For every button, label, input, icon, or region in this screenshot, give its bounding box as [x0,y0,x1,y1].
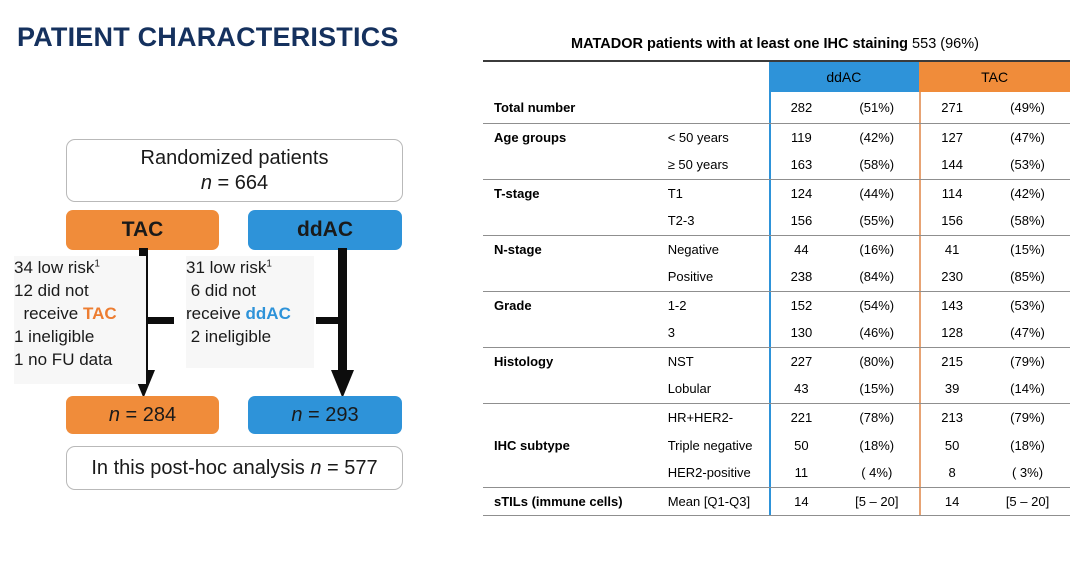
excl-right-line2: 6 did not [186,281,256,300]
result-tac-n-symbol: n [109,404,120,426]
row-label [483,375,668,403]
result-ddac-n-value: = 293 [302,404,358,426]
cell-ddac-percent: (80%) [834,347,919,375]
cell-ddac-percent: (51%) [834,92,919,123]
excl-right-line4: 2 ineligible [186,327,271,346]
cell-ddac-count: 156 [769,207,835,235]
posthoc-n-value: = 577 [321,457,377,479]
row-subcategory [668,92,769,123]
cell-ddac-percent: (42%) [834,123,919,151]
flow-box-arm-tac: TAC [66,210,219,250]
cell-tac-count: 156 [919,207,985,235]
excl-right-drug-ddac: ddAC [246,304,291,323]
randomized-n-value: = 664 [212,172,268,194]
table-caption: MATADOR patients with at least one IHC s… [470,36,1080,52]
excl-left-line5: 1 no FU data [14,350,112,369]
cell-ddac-count: 130 [769,319,835,347]
posthoc-text: In this post-hoc analysis [91,457,310,479]
table-row: 3130(46%)128(47%) [483,319,1070,347]
cell-tac-percent: (79%) [985,347,1070,375]
cell-ddac-count: 43 [769,375,835,403]
cell-ddac-percent: (16%) [834,235,919,263]
cell-tac-percent: (47%) [985,123,1070,151]
flow-box-result-ddac: n = 293 [248,396,402,434]
table-row: ≥ 50 years163(58%)144(53%) [483,151,1070,179]
column-group-tac: TAC [919,61,1070,92]
cell-tac-count: 14 [919,487,985,515]
row-label: Histology [483,347,668,375]
row-subcategory: HER2-positive [668,459,769,487]
excl-right-line3-prefix: receive [186,304,246,323]
cell-ddac-percent: (44%) [834,179,919,207]
table-caption-bold: MATADOR patients with at least one IHC s… [571,36,908,52]
cell-tac-count: 215 [919,347,985,375]
row-subcategory: Negative [668,235,769,263]
cell-ddac-count: 238 [769,263,835,291]
patient-flow-diagram: Randomized patients n = 664 TAC ddAC 34 … [0,0,470,569]
cell-tac-percent: (53%) [985,151,1070,179]
table-row: T-stageT1124(44%)114(42%) [483,179,1070,207]
cell-ddac-count: 282 [769,92,835,123]
cell-tac-count: 271 [919,92,985,123]
row-label [483,151,668,179]
row-subcategory: T2-3 [668,207,769,235]
cell-ddac-percent: (78%) [834,403,919,431]
column-group-ddac: ddAC [769,61,920,92]
arm-ddac-label: ddAC [297,218,353,242]
table-row: sTILs (immune cells)Mean [Q1-Q3]14[5 – 2… [483,487,1070,515]
table-row: N-stageNegative44(16%)41(15%) [483,235,1070,263]
header-spacer-label [483,61,668,92]
cell-ddac-percent: (15%) [834,375,919,403]
cell-ddac-count: 152 [769,291,835,319]
table-row: Positive238(84%)230(85%) [483,263,1070,291]
cell-tac-count: 230 [919,263,985,291]
cell-ddac-count: 227 [769,347,835,375]
table-row: Lobular43(15%)39(14%) [483,375,1070,403]
cell-tac-percent: (47%) [985,319,1070,347]
row-subcategory: Lobular [668,375,769,403]
cell-ddac-percent: (55%) [834,207,919,235]
randomized-label: Randomized patients [141,147,329,169]
cell-ddac-count: 11 [769,459,835,487]
cell-tac-percent: (49%) [985,92,1070,123]
row-label [483,459,668,487]
table-row: HistologyNST227(80%)215(79%) [483,347,1070,375]
flow-box-arm-ddac: ddAC [248,210,402,250]
table-row: HR+HER2-221(78%)213(79%) [483,403,1070,431]
row-label [483,207,668,235]
cell-ddac-count: 163 [769,151,835,179]
row-subcategory: Positive [668,263,769,291]
cell-tac-count: 144 [919,151,985,179]
flow-box-posthoc-total: In this post-hoc analysis n = 577 [66,446,403,490]
cell-tac-count: 41 [919,235,985,263]
row-label [483,319,668,347]
cell-tac-percent: (18%) [985,431,1070,459]
table-row: Age groups< 50 years119(42%)127(47%) [483,123,1070,151]
cell-tac-percent: (42%) [985,179,1070,207]
cell-tac-count: 128 [919,319,985,347]
row-label: IHC subtype [483,431,668,459]
cell-tac-count: 39 [919,375,985,403]
cell-tac-percent: (58%) [985,207,1070,235]
table-caption-count: 553 (96%) [908,36,979,52]
row-subcategory: ≥ 50 years [668,151,769,179]
row-subcategory: NST [668,347,769,375]
table-header-row: ddACTAC [483,61,1070,92]
cell-ddac-percent: (18%) [834,431,919,459]
table-row: Grade1-2152(54%)143(53%) [483,291,1070,319]
characteristics-table: ddACTACTotal number282(51%)271(49%)Age g… [483,60,1070,516]
cell-tac-percent: (79%) [985,403,1070,431]
table-row: HER2-positive11( 4%)8( 3%) [483,459,1070,487]
table-row: IHC subtypeTriple negative50(18%)50(18%) [483,431,1070,459]
result-tac-n-value: = 284 [120,404,176,426]
row-label: Total number [483,92,668,123]
cell-tac-percent: ( 3%) [985,459,1070,487]
cell-ddac-percent: (54%) [834,291,919,319]
row-subcategory: 1-2 [668,291,769,319]
row-label [483,403,668,431]
cell-tac-count: 8 [919,459,985,487]
row-subcategory: HR+HER2- [668,403,769,431]
excl-left-line4: 1 ineligible [14,327,94,346]
excl-left-line1-text: low risk [33,258,94,277]
cell-ddac-percent: (58%) [834,151,919,179]
characteristics-table-panel: MATADOR patients with at least one IHC s… [470,0,1080,569]
flow-box-randomized: Randomized patients n = 664 [66,139,403,202]
cell-tac-count: 213 [919,403,985,431]
flow-arrow-right [309,248,365,400]
posthoc-n-symbol: n [310,457,321,479]
row-subcategory: < 50 years [668,123,769,151]
cell-tac-percent: (85%) [985,263,1070,291]
cell-ddac-count: 119 [769,123,835,151]
randomized-n-symbol: n [201,172,212,194]
cell-tac-percent: (15%) [985,235,1070,263]
cell-ddac-count: 14 [769,487,835,515]
excl-right-line1-text: low risk [205,258,266,277]
cell-ddac-percent: [5 – 20] [834,487,919,515]
row-label: Age groups [483,123,668,151]
excl-right-footnote-marker: 1 [266,258,272,269]
row-label: T-stage [483,179,668,207]
arm-tac-label: TAC [122,218,164,242]
excl-left-line2: 12 did not [14,281,89,300]
cell-tac-count: 114 [919,179,985,207]
table-row: T2-3156(55%)156(58%) [483,207,1070,235]
cell-tac-count: 127 [919,123,985,151]
row-subcategory: Mean [Q1-Q3] [668,487,769,515]
cell-ddac-percent: ( 4%) [834,459,919,487]
row-subcategory: Triple negative [668,431,769,459]
cell-ddac-count: 221 [769,403,835,431]
cell-tac-percent: [5 – 20] [985,487,1070,515]
row-label: N-stage [483,235,668,263]
row-subcategory: 3 [668,319,769,347]
excl-left-drug-tac: TAC [83,304,117,323]
row-label: sTILs (immune cells) [483,487,668,515]
cell-tac-count: 50 [919,431,985,459]
table-bottom-rule [483,515,1070,516]
row-subcategory: T1 [668,179,769,207]
cell-tac-percent: (14%) [985,375,1070,403]
excl-left-footnote-marker: 1 [94,258,100,269]
cell-ddac-percent: (46%) [834,319,919,347]
header-spacer-sub [668,61,769,92]
cell-ddac-count: 50 [769,431,835,459]
cell-ddac-count: 124 [769,179,835,207]
cell-tac-percent: (53%) [985,291,1070,319]
result-ddac-n-symbol: n [291,404,302,426]
cell-tac-count: 143 [919,291,985,319]
flow-box-result-tac: n = 284 [66,396,219,434]
cell-ddac-count: 44 [769,235,835,263]
excl-right-line1-num: 31 [186,258,205,277]
slide-root: PATIENT CHARACTERISTICS Randomized patie… [0,0,1080,569]
row-label: Grade [483,291,668,319]
exclusions-tac: 34 low risk1 12 did not receive TAC 1 in… [14,256,146,384]
excl-left-line3-prefix: receive [14,304,83,323]
cell-ddac-percent: (84%) [834,263,919,291]
table-row: Total number282(51%)271(49%) [483,92,1070,123]
exclusions-ddac: 31 low risk1 6 did not receive ddAC 2 in… [186,256,314,368]
row-label [483,263,668,291]
excl-left-line1-num: 34 [14,258,33,277]
